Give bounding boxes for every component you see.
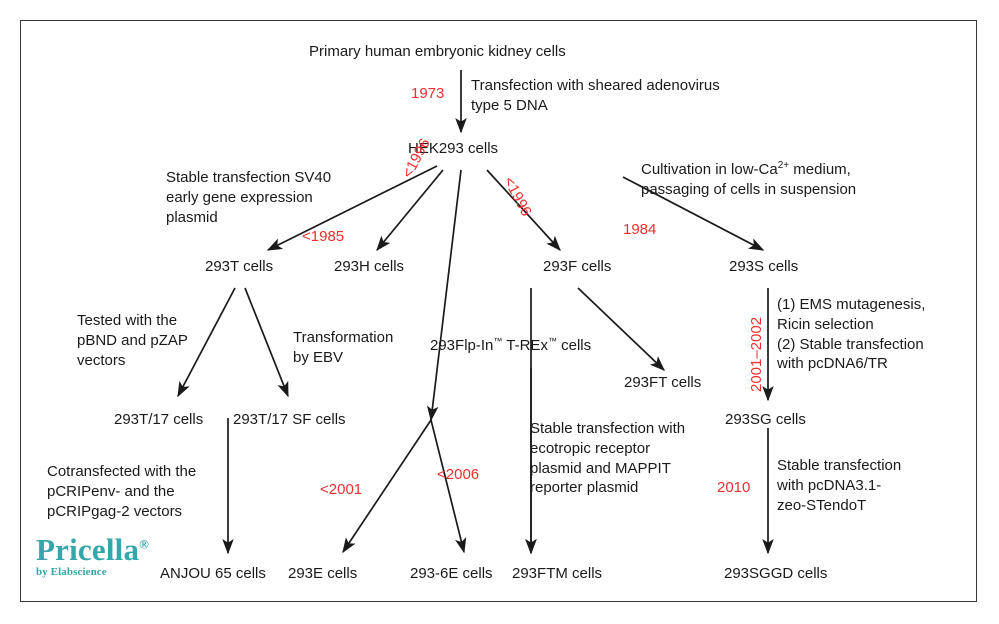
desc-line: (1) EMS mutagenesis,: [777, 295, 957, 315]
desc-line: Stable transfection: [777, 456, 957, 476]
desc-line: early gene expression: [166, 188, 386, 208]
description-sv40-transfection: Stable transfection SV40 early gene expr…: [166, 168, 386, 227]
description-ebv-transformation: Transformation by EBV: [293, 328, 433, 368]
node-primary: Primary human embryonic kidney cells: [309, 43, 566, 62]
desc-line: (2) Stable transfection: [777, 335, 957, 355]
pricella-logo: Pricella® by Elabscience: [36, 534, 186, 578]
registered-trademark-icon: ®: [139, 537, 149, 552]
description-transfection-adenovirus: Transfection with sheared adenovirus typ…: [471, 76, 761, 116]
description-pcdna31-transfection: Stable transfection with pcDNA3.1- zeo-S…: [777, 456, 957, 515]
desc-line: reporter plasmid: [530, 478, 730, 498]
diagram-canvas: Primary human embryonic kidney cells HEK…: [0, 0, 999, 624]
desc-line: Tested with the: [77, 311, 267, 331]
desc-line: by EBV: [293, 348, 433, 368]
desc-line: Cotransfected with the: [47, 462, 257, 482]
description-pbnd-pzap-vectors: Tested with the pBND and pZAP vectors: [77, 311, 267, 370]
desc-line: plasmid and MAPPIT: [530, 459, 730, 479]
description-low-calcium-cultivation: Cultivation in low-Ca2+ medium, passagin…: [641, 159, 941, 200]
node-293-6e: 293-6E cells: [410, 565, 493, 584]
desc-line: pCRIPenv- and the: [47, 482, 257, 502]
logo-tagline: by Elabscience: [36, 566, 186, 578]
desc-line: pCRIPgag-2 vectors: [47, 502, 257, 522]
desc-line: ecotropic receptor: [530, 439, 730, 459]
desc-line: Cultivation in low-Ca2+ medium,: [641, 159, 941, 180]
year-2010: 2010: [717, 479, 750, 497]
desc-line: type 5 DNA: [471, 96, 761, 116]
desc-line: plasmid: [166, 208, 386, 228]
description-cotransfected-pcrip: Cotransfected with the pCRIPenv- and the…: [47, 462, 257, 521]
node-293t-17-sf: 293T/17 SF cells: [233, 411, 346, 430]
node-293t: 293T cells: [205, 258, 273, 277]
year-lt2001: <2001: [320, 481, 362, 499]
node-293flp-in-trex: 293Flp-In™ T-REx™ cells: [430, 336, 591, 356]
desc-line: vectors: [77, 351, 267, 371]
desc-line: Transformation: [293, 328, 433, 348]
year-1984: 1984: [623, 221, 656, 239]
node-293ft: 293FT cells: [624, 374, 701, 393]
node-293h: 293H cells: [334, 258, 404, 277]
desc-line: zeo-STendoT: [777, 496, 957, 516]
year-lt2006: <2006: [437, 466, 479, 484]
description-ems-mutagenesis: (1) EMS mutagenesis, Ricin selection (2)…: [777, 295, 957, 374]
node-293f: 293F cells: [543, 258, 611, 277]
desc-line: passaging of cells in suspension: [641, 180, 941, 200]
description-mappit-reporter: Stable transfection with ecotropic recep…: [530, 419, 730, 498]
desc-line: Ricin selection: [777, 315, 957, 335]
desc-line: Stable transfection SV40: [166, 168, 386, 188]
year-1973: 1973: [411, 85, 444, 103]
node-293s: 293S cells: [729, 258, 798, 277]
year-2001-2002: 2001–2002: [748, 317, 766, 392]
node-293sg: 293SG cells: [725, 411, 806, 430]
node-293flp-in-trex-label: 293Flp-In™ T-REx™ cells: [430, 337, 591, 354]
node-293e: 293E cells: [288, 565, 357, 584]
node-293t-17: 293T/17 cells: [114, 411, 203, 430]
node-293ftm: 293FTM cells: [512, 565, 602, 584]
logo-name: Pricella: [36, 532, 139, 567]
desc-line: Stable transfection with: [530, 419, 730, 439]
year-lt1985: <1985: [302, 228, 344, 246]
desc-line: Transfection with sheared adenovirus: [471, 76, 761, 96]
desc-line: pBND and pZAP: [77, 331, 267, 351]
node-293sggd: 293SGGD cells: [724, 565, 827, 584]
desc-line: with pcDNA3.1-: [777, 476, 957, 496]
desc-line: with pcDNA6/TR: [777, 354, 957, 374]
logo-wordmark: Pricella®: [36, 534, 186, 565]
